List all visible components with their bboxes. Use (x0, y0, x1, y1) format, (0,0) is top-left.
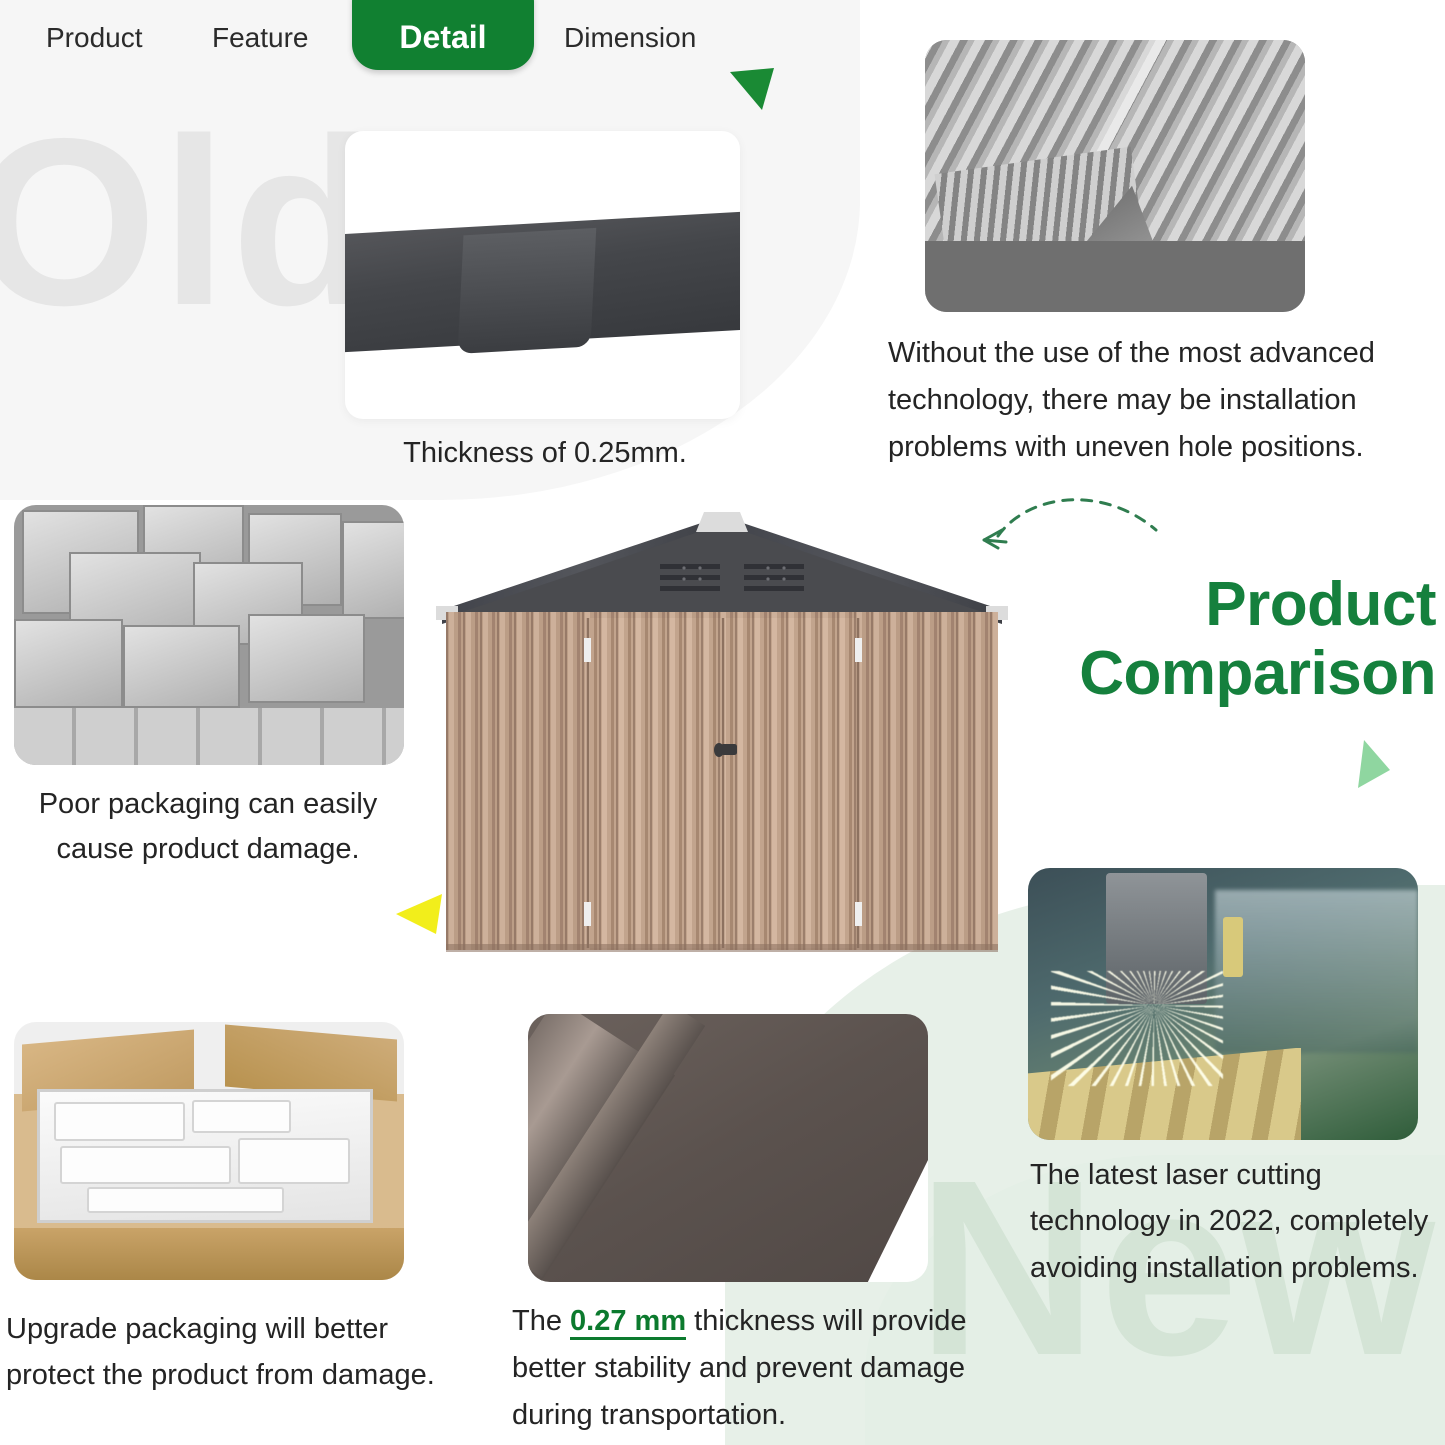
nav-tabs: Product Feature Detail Dimension (0, 0, 760, 84)
infographic-page: Old New Product Feature Detail Dimension… (0, 0, 1445, 1445)
tab-feature[interactable]: Feature (212, 22, 309, 54)
old-packaging-caption-line2: cause product damage. (8, 827, 408, 872)
light-green-triangle-pointer-icon (1356, 738, 1392, 790)
old-technology-caption: Without the use of the most advanced tec… (888, 330, 1440, 471)
carton-front-panel (14, 1228, 404, 1280)
old-thin-panel-photo (345, 131, 740, 419)
tab-detail[interactable]: Detail (352, 0, 534, 70)
old-watermark: Old (0, 104, 381, 342)
page-headline: Product Comparison (1036, 570, 1436, 709)
old-packaging-caption-line1: Poor packaging can easily (8, 782, 408, 827)
new-thickness-value: 0.27 mm (570, 1305, 686, 1340)
new-packaging-caption: Upgrade packaging will better protect th… (6, 1306, 466, 1399)
laser-workpiece (1215, 890, 1418, 1053)
new-thickness-caption: The 0.27 mm thickness will provide bette… (512, 1298, 1022, 1439)
tab-detail-label: Detail (399, 19, 486, 56)
thick-panel-sheet (528, 1014, 928, 1282)
thick-panel-artwork (528, 1014, 928, 1282)
damaged-roof-ground (925, 241, 1305, 312)
tab-product[interactable]: Product (46, 22, 143, 54)
product-shed-illustration (432, 498, 1012, 960)
laser-cutting-artwork (1028, 868, 1418, 1140)
headline-line-2: Comparison (1036, 639, 1436, 708)
new-laser-caption: The latest laser cutting technology in 2… (1030, 1152, 1445, 1291)
dashed-curved-arrow-icon (976, 478, 1172, 558)
laser-nozzle (1223, 917, 1243, 977)
thin-panel-artwork (345, 212, 740, 353)
headline-line-1: Product (1036, 570, 1436, 639)
yellow-triangle-pointer-icon (396, 892, 444, 936)
old-damaged-roof-photo (925, 40, 1305, 312)
old-packaging-photo (14, 505, 404, 765)
laser-sparks (1051, 971, 1223, 1085)
stacked-boxes-artwork (14, 505, 404, 765)
carton-contents (37, 1089, 372, 1223)
new-laser-cutting-photo (1028, 868, 1418, 1140)
new-thick-panel-photo (528, 1014, 928, 1282)
new-packaging-photo (14, 1022, 404, 1280)
new-thickness-caption-before: The (512, 1305, 570, 1337)
old-packaging-caption: Poor packaging can easily cause product … (8, 782, 408, 872)
open-carton-artwork (14, 1022, 404, 1280)
tab-dimension[interactable]: Dimension (564, 22, 696, 54)
boxes-floor (14, 708, 404, 765)
old-thickness-caption: Thickness of 0.25mm. (345, 432, 745, 476)
